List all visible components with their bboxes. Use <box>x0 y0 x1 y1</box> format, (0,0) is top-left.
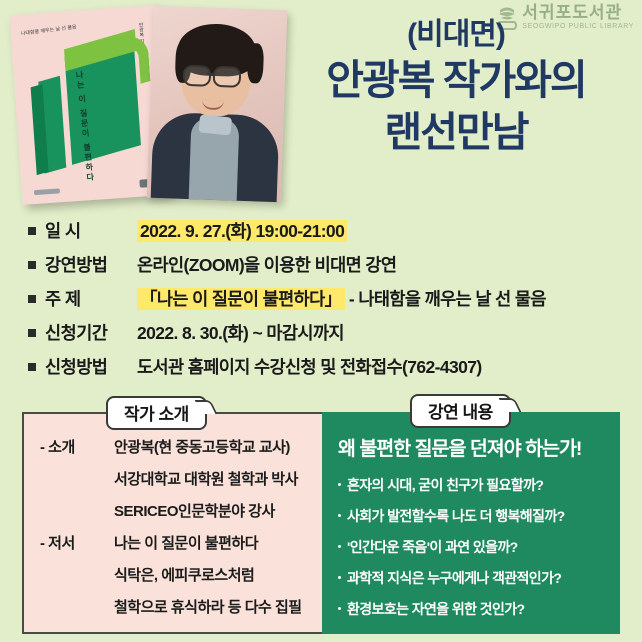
event-poster: 서귀포도서관 SEOGWIPO PUBLIC LIBRARY 나태함을 깨우는 … <box>0 0 642 642</box>
portrait-glasses-right <box>213 66 242 88</box>
portrait-glasses-bridge <box>207 73 213 75</box>
author-value-intro-1: 안광복(현 중동고등학교 교사) <box>114 436 290 457</box>
portrait-hair-right <box>247 43 264 84</box>
square-bullet-icon <box>28 329 36 337</box>
lecture-item-5: 환경보호는 자연을 위한 것인가? <box>338 599 620 619</box>
info-value-period: 2022. 8. 30.(화) ~ 마감시까지 <box>137 320 344 345</box>
lecture-item-1: 혼자의 시대, 굳이 친구가 필요할까? <box>338 475 620 495</box>
info-row-date: 일 시 2022. 9. 27.(화) 19:00-21:00 <box>28 218 628 243</box>
lecture-heading: 왜 불편한 질문을 던져야 하는가! <box>338 432 620 461</box>
info-value-date: 2022. 9. 27.(화) 19:00-21:00 <box>137 218 347 243</box>
square-bullet-icon <box>28 261 36 269</box>
poster-title: (비대면) 안광복 작가와의 랜선만남 <box>280 18 632 157</box>
lecture-content-tab: 강연 내용 <box>410 394 511 428</box>
author-intro-list: - 소개 안광복(현 중동고등학교 교사) 서강대학교 대학원 철학과 박사 S… <box>24 414 322 617</box>
author-row-book-2: 식탁은, 에피쿠로스처럼 <box>40 564 322 585</box>
author-intro-tab: 작가 소개 <box>106 396 207 430</box>
info-label-period: 신청기간 <box>45 320 137 345</box>
author-portrait <box>147 6 288 203</box>
author-value-book-2: 식탁은, 에피쿠로스처럼 <box>114 564 254 585</box>
book-cover-tagline: 나태함을 깨우는 날 선 물음 <box>20 23 77 39</box>
book-cover-image: 나태함을 깨우는 날 선 물음 안광복 지음 나는 이 질문이 불편하다 <box>10 5 171 205</box>
dot-bullet-icon <box>338 576 341 579</box>
dot-bullet-icon <box>338 483 341 486</box>
dot-bullet-icon <box>338 607 341 610</box>
title-subtitle: (비대면) <box>280 18 632 53</box>
title-line-1: 안광복 작가와의 <box>280 55 632 105</box>
author-intro-panel: 작가 소개 - 소개 안광복(현 중동고등학교 교사) 서강대학교 대학원 철학… <box>22 412 322 634</box>
author-key-books: - 저서 <box>40 532 114 553</box>
lecture-item-5-text: 환경보호는 자연을 위한 것인가? <box>347 601 524 617</box>
author-key-intro: - 소개 <box>40 436 114 457</box>
info-label-method: 강연방법 <box>45 252 137 277</box>
square-bullet-icon <box>28 363 36 371</box>
info-row-period: 신청기간 2022. 8. 30.(화) ~ 마감시까지 <box>28 320 628 345</box>
lecture-item-3-text: '인간다운 죽음'이 과연 있을까? <box>347 539 518 555</box>
info-value-apply: 도서관 홈페이지 수강신청 및 전화접수(762-4307) <box>137 354 482 379</box>
info-value-date-highlight: 2022. 9. 27.(화) 19:00-21:00 <box>137 220 347 242</box>
hero-media: 나태함을 깨우는 날 선 물음 안광복 지음 나는 이 질문이 불편하다 <box>8 2 288 207</box>
lecture-content-panel: 강연 내용 왜 불편한 질문을 던져야 하는가! 혼자의 시대, 굳이 친구가 … <box>322 412 620 634</box>
lecture-item-2-text: 사회가 발전할수록 나도 더 행복해질까? <box>347 508 565 524</box>
author-row-intro-1: - 소개 안광복(현 중동고등학교 교사) <box>40 436 322 457</box>
info-row-topic: 주 제 「나는 이 질문이 불편하다」 - 나태함을 깨우는 날 선 물음 <box>28 286 628 311</box>
author-value-book-3: 철학으로 휴식하라 등 다수 집필 <box>114 596 302 617</box>
author-row-intro-3: SERICEO인문학분야 강사 <box>40 500 322 521</box>
lecture-content-body: 왜 불편한 질문을 던져야 하는가! 혼자의 시대, 굳이 친구가 필요할까? … <box>322 412 620 619</box>
author-row-intro-2: 서강대학교 대학원 철학과 박사 <box>40 468 322 489</box>
info-row-method: 강연방법 온라인(ZOOM)을 이용한 비대면 강연 <box>28 252 628 277</box>
square-bullet-icon <box>28 227 36 235</box>
lecture-item-3: '인간다운 죽음'이 과연 있을까? <box>338 537 620 557</box>
info-value-topic-rest: - 나태함을 깨우는 날 선 물음 <box>345 289 546 309</box>
info-label-date: 일 시 <box>45 218 137 243</box>
bottom-panels: 작가 소개 - 소개 안광복(현 중동고등학교 교사) 서강대학교 대학원 철학… <box>22 412 620 634</box>
event-info-list: 일 시 2022. 9. 27.(화) 19:00-21:00 강연방법 온라인… <box>28 218 628 388</box>
portrait-glasses-left <box>183 65 212 87</box>
book-cover-publisher-mark <box>34 188 60 195</box>
info-label-apply: 신청방법 <box>45 354 137 379</box>
info-row-apply: 신청방법 도서관 홈페이지 수강신청 및 전화접수(762-4307) <box>28 354 628 379</box>
lecture-item-4-text: 과학적 지식은 누구에게나 객관적인가? <box>347 570 561 586</box>
title-line-2: 랜선만남 <box>280 107 632 157</box>
author-row-book-1: - 저서 나는 이 질문이 불편하다 <box>40 532 322 553</box>
dot-bullet-icon <box>338 514 341 517</box>
author-value-book-1: 나는 이 질문이 불편하다 <box>114 532 258 553</box>
portrait-collar <box>198 114 232 135</box>
author-value-intro-2: 서강대학교 대학원 철학과 박사 <box>114 468 298 489</box>
lecture-item-4: 과학적 지식은 누구에게나 객관적인가? <box>338 568 620 588</box>
author-row-book-3: 철학으로 휴식하라 등 다수 집필 <box>40 596 322 617</box>
info-label-topic: 주 제 <box>45 286 137 311</box>
info-value-topic-highlight: 「나는 이 질문이 불편하다」 <box>137 288 345 310</box>
author-value-intro-3: SERICEO인문학분야 강사 <box>114 500 275 521</box>
info-value-topic: 「나는 이 질문이 불편하다」 - 나태함을 깨우는 날 선 물음 <box>137 286 546 311</box>
square-bullet-icon <box>28 295 36 303</box>
info-value-method: 온라인(ZOOM)을 이용한 비대면 강연 <box>137 252 396 277</box>
lecture-item-1-text: 혼자의 시대, 굳이 친구가 필요할까? <box>347 477 543 493</box>
dot-bullet-icon <box>338 545 341 548</box>
lecture-item-2: 사회가 발전할수록 나도 더 행복해질까? <box>338 506 620 526</box>
